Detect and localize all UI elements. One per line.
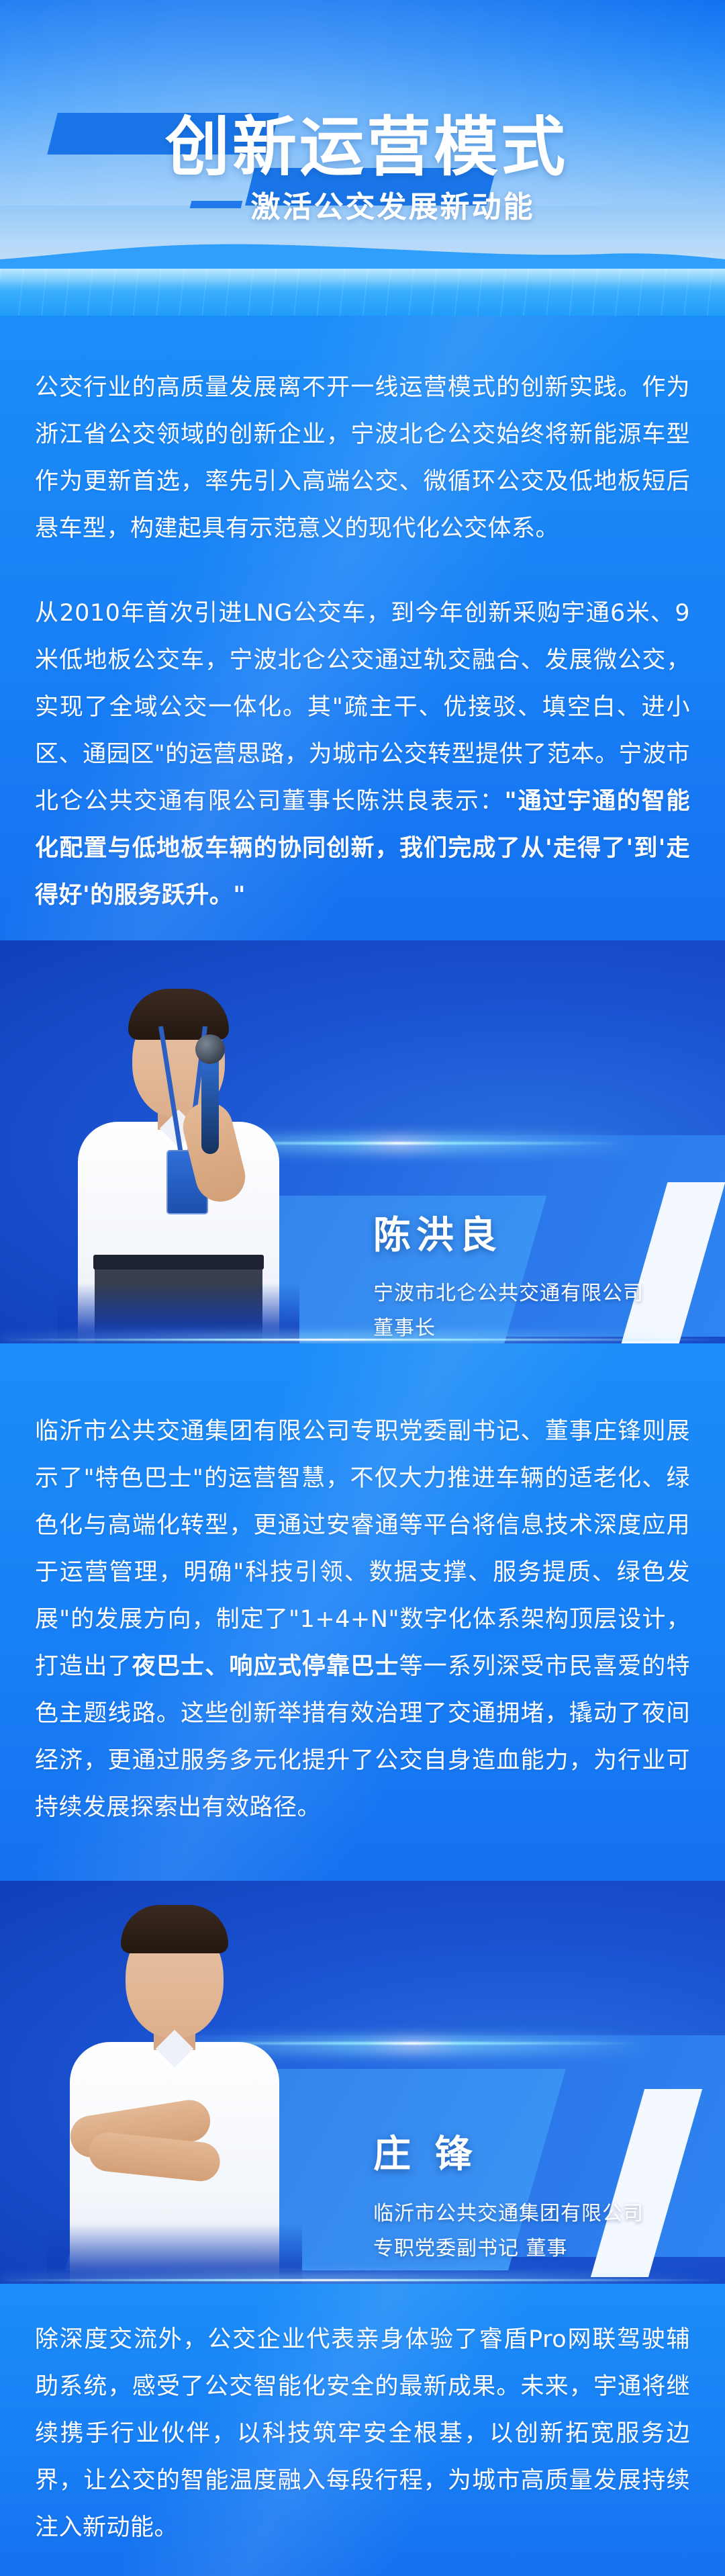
hero-header: 创新运营模式 激活公交发展新动能 bbox=[0, 0, 725, 316]
sea-band bbox=[0, 269, 725, 316]
paragraph-2: 从2010年首次引进LNG公交车，到今年创新采购宇通6米、9米低地板公交车，宁波… bbox=[35, 590, 690, 919]
paragraph-3: 临沂市公共交通集团有限公司专职党委副书记、董事庄锋则展示了"特色巴士"的运营智慧… bbox=[35, 1408, 690, 1831]
person-card-zhuang-feng: 庄 锋 临沂市公共交通集团有限公司 专职党委副书记 董事 bbox=[0, 1881, 725, 2284]
person-card-chen-hongliang: 陈洪良 宁波市北仑公共交通有限公司 董事长 bbox=[0, 940, 725, 1343]
person-name: 陈洪良 bbox=[373, 1205, 502, 1259]
person-photo-zhuang-feng bbox=[47, 1894, 302, 2284]
person-role-2: 专职党委副书记 董事 bbox=[373, 2231, 568, 2261]
linyi-text-section: 临沂市公共交通集团有限公司专职党委副书记、董事庄锋则展示了"特色巴士"的运营智慧… bbox=[0, 1343, 725, 1881]
paragraph-2-lead: 从2010年首次引进LNG公交车，到今年创新采购宇通6米、9米低地板公交车，宁波… bbox=[35, 600, 690, 815]
divider-glow-soft bbox=[0, 1329, 725, 1343]
person-org: 宁波市北仑公共交通有限公司 bbox=[373, 1276, 644, 1306]
paragraph-4: 除深度交流外，公交企业代表亲身体验了睿盾Pro网联驾驶辅助系统，感受了公交智能化… bbox=[35, 2316, 690, 2551]
person-org-2: 临沂市公共交通集团有限公司 bbox=[373, 2196, 644, 2226]
page-title: 创新运营模式 bbox=[4, 113, 725, 183]
page-subtitle: 激活公交发展新动能 bbox=[251, 183, 535, 226]
paragraph-3-lead: 临沂市公共交通集团有限公司专职党委副书记、董事庄锋则展示了"特色巴士"的运营智慧… bbox=[35, 1418, 690, 1680]
intro-text-section: 公交行业的高质量发展离不开一线运营模式的创新实践。作为浙江省公交领域的创新企业，… bbox=[0, 316, 725, 940]
outro-text-section: 除深度交流外，公交企业代表亲身体验了睿盾Pro网联驾驶辅助系统，感受了公交智能化… bbox=[0, 2284, 725, 2576]
divider-glow-soft-2 bbox=[0, 2269, 725, 2284]
divider-glow-line bbox=[0, 1339, 725, 1341]
subtitle-row: 激活公交发展新动能 bbox=[0, 183, 725, 226]
poster-page: 创新运营模式 激活公交发展新动能 公交行业的高质量发展离不开一线运营模式的创新实… bbox=[0, 0, 725, 2576]
divider-glow-line-2 bbox=[0, 2279, 725, 2281]
person-photo-chen-hongliang bbox=[58, 967, 299, 1343]
person-name-2: 庄 锋 bbox=[373, 2124, 478, 2178]
subtitle-dash-icon bbox=[189, 201, 242, 208]
paragraph-3-highlight: 夜巴士、响应式停靠巴士 bbox=[132, 1653, 399, 1680]
paragraph-1: 公交行业的高质量发展离不开一线运营模式的创新实践。作为浙江省公交领域的创新企业，… bbox=[35, 364, 690, 552]
